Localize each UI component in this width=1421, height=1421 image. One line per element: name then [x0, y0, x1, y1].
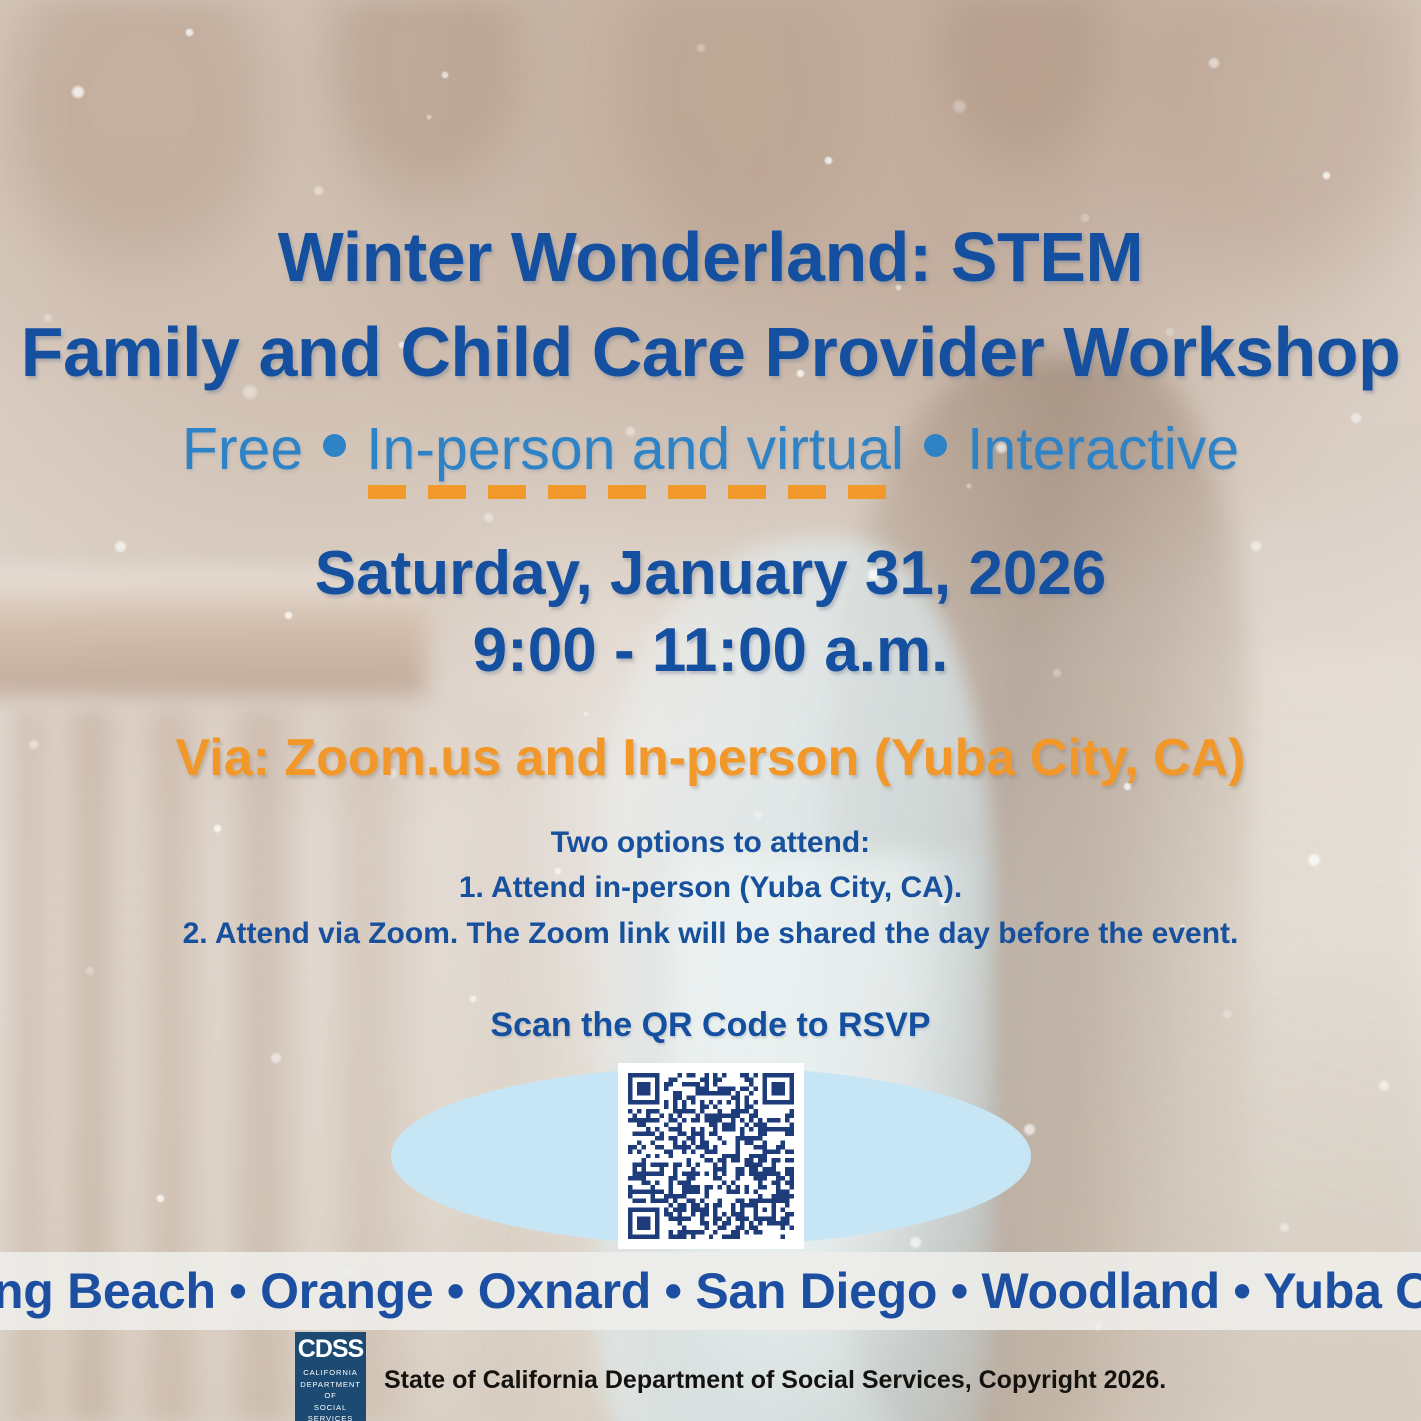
attendance-option-1: 1. Attend in-person (Yuba City, CA).: [183, 865, 1239, 911]
qr-code-card[interactable]: [618, 1063, 804, 1249]
flyer-footer: CDSS CALIFORNIA DEPARTMENT OF SOCIAL SER…: [0, 1330, 1421, 1421]
cdss-logo-line-2: DEPARTMENT OF: [295, 1379, 366, 1402]
attendance-option-2: 2. Attend via Zoom. The Zoom link will b…: [183, 911, 1239, 957]
flyer-title-line-2: Family and Child Care Provider Workshop: [0, 317, 1421, 388]
orange-dashed-underline: [368, 485, 904, 499]
cdss-logo-icon: CDSS CALIFORNIA DEPARTMENT OF SOCIAL SER…: [295, 1332, 366, 1421]
tagline-part-interactive: Interactive: [967, 415, 1239, 483]
cdss-logo-line-1: CALIFORNIA: [295, 1367, 366, 1379]
cdss-logo-line-3: SOCIAL SERVICES: [295, 1402, 366, 1421]
attendance-options: Two options to attend: 1. Attend in-pers…: [183, 820, 1239, 957]
tagline-modality-label: In-person and virtual: [366, 416, 904, 482]
tagline-part-modality: In-person and virtual: [366, 415, 904, 483]
copyright-text: State of California Department of Social…: [384, 1366, 1166, 1395]
qr-code-icon[interactable]: [628, 1073, 794, 1239]
event-date: Saturday, January 31, 2026: [315, 539, 1107, 608]
date-time-block: Saturday, January 31, 2026 9:00 - 11:00 …: [315, 539, 1107, 686]
bullet-dot-icon: [323, 434, 346, 457]
flyer-title-line-1: Winter Wonderland: STEM: [0, 222, 1421, 293]
flyer-tagline: Free In-person and virtual Interactive: [182, 415, 1239, 483]
event-flyer: Winter Wonderland: STEM Family and Child…: [0, 0, 1421, 1421]
cdss-logo-mark: CDSS: [298, 1337, 363, 1362]
qr-code-area: [391, 1067, 1031, 1245]
cities-band: Long Beach • Orange • Oxnard • San Diego…: [0, 1252, 1421, 1330]
event-time: 9:00 - 11:00 a.m.: [315, 616, 1107, 685]
bullet-dot-icon: [924, 434, 947, 457]
tagline-part-free: Free: [182, 415, 303, 483]
rsvp-instruction: Scan the QR Code to RSVP: [490, 1006, 930, 1045]
title-block: Winter Wonderland: STEM Family and Child…: [0, 222, 1421, 389]
flyer-content: Winter Wonderland: STEM Family and Child…: [0, 0, 1421, 1421]
cities-list: Long Beach • Orange • Oxnard • San Diego…: [0, 1262, 1421, 1320]
event-location-line: Via: Zoom.us and In-person (Yuba City, C…: [176, 728, 1246, 788]
cdss-logo-subtitle: CALIFORNIA DEPARTMENT OF SOCIAL SERVICES: [295, 1367, 366, 1421]
attendance-options-heading: Two options to attend:: [183, 820, 1239, 866]
